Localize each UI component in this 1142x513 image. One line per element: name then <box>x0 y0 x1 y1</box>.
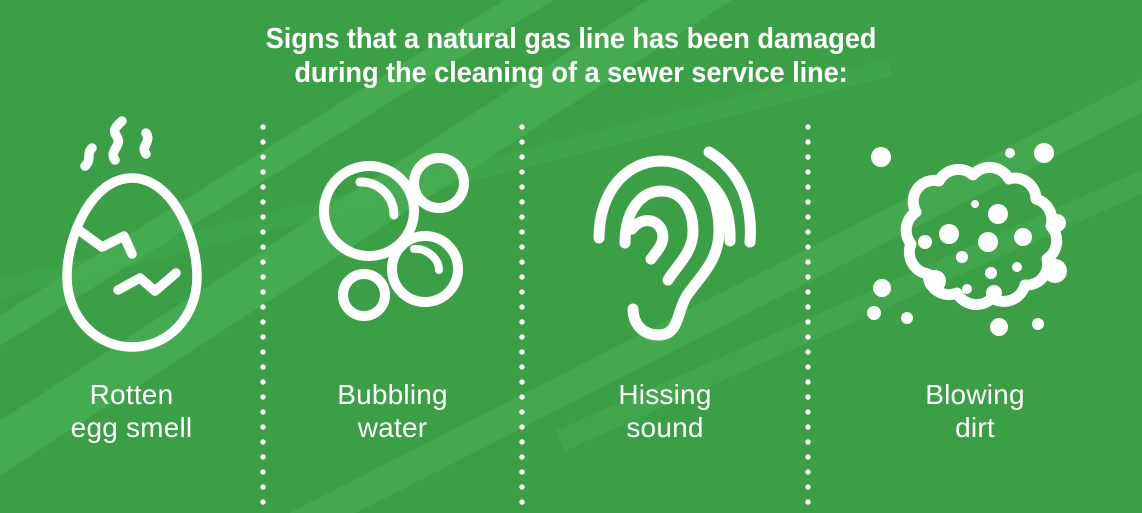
dust-cloud-icon <box>869 141 1081 341</box>
sign-caption-line-2: egg smell <box>71 411 193 444</box>
signs-column-group: Rotten egg smell <box>0 104 1142 513</box>
page-title-line-2: during the cleaning of a sewer service l… <box>34 56 1107 90</box>
sign-caption-line-1: Rotten <box>71 378 193 411</box>
sign-caption-line-1: Bubbling <box>337 378 448 411</box>
sign-item-hissing-sound: Hissing sound <box>522 104 808 513</box>
sign-caption: Rotten egg smell <box>71 378 193 444</box>
sign-caption-line-2: sound <box>618 411 711 444</box>
page-title-line-1: Signs that a natural gas line has been d… <box>34 22 1107 56</box>
sign-item-blowing-dirt: Blowing dirt <box>808 104 1142 513</box>
sign-caption-line-1: Hissing <box>618 378 711 411</box>
sign-caption-line-2: water <box>337 411 448 444</box>
sign-item-bubbling-water: Bubbling water <box>263 104 522 513</box>
cracked-egg-with-stink-lines-icon <box>58 116 206 366</box>
icon-container <box>263 104 522 378</box>
icon-container <box>0 104 263 378</box>
sign-caption-line-2: dirt <box>925 411 1024 444</box>
ear-with-sound-waves-icon <box>585 139 745 344</box>
infographic-panel: Signs that a natural gas line has been d… <box>0 0 1142 513</box>
sign-caption: Bubbling water <box>337 378 448 444</box>
sign-caption: Blowing dirt <box>925 378 1024 444</box>
dotted-divider-2 <box>519 124 525 513</box>
bubbles-icon <box>308 151 478 331</box>
icon-container <box>522 104 808 378</box>
icon-container <box>808 104 1142 378</box>
sign-caption-line-1: Blowing <box>925 378 1024 411</box>
dotted-divider-3 <box>805 124 811 513</box>
sign-item-rotten-egg-smell: Rotten egg smell <box>0 104 263 513</box>
sign-caption: Hissing sound <box>618 378 711 444</box>
page-title: Signs that a natural gas line has been d… <box>34 22 1107 90</box>
dotted-divider-1 <box>260 124 266 513</box>
